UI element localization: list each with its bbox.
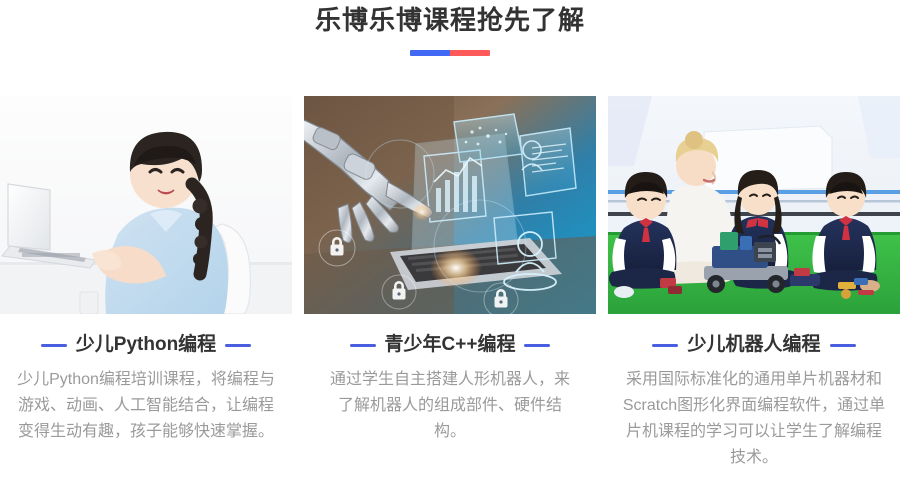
dash-right-icon: [830, 344, 856, 347]
dash-right-icon: [524, 344, 550, 347]
course-card-python[interactable]: 少儿Python编程 少儿Python编程培训课程，将编程与游戏、动画、人工智能…: [0, 96, 292, 471]
course-title-text: 少儿机器人编程: [687, 334, 820, 356]
course-card-cpp[interactable]: 青少年C++编程 通过学生自主搭建人形机器人，来了解机器人的组成部件、硬件结构。: [304, 96, 596, 471]
page-title: 乐博乐博课程抢先了解: [0, 4, 900, 36]
course-promo-page: 乐博乐博课程抢先了解: [0, 0, 900, 482]
divider-segment-red: [450, 50, 490, 56]
course-desc-cpp: 通过学生自主搭建人形机器人，来了解机器人的组成部件、硬件结构。: [325, 367, 575, 445]
course-title-python: 少儿Python编程: [41, 334, 251, 356]
course-desc-robotics: 采用国际标准化的通用单片机器材和Scratch图形化界面编程软件，通过单片机课程…: [619, 367, 889, 471]
dash-left-icon: [41, 344, 67, 347]
course-title-robotics: 少儿机器人编程: [652, 334, 855, 356]
course-title-text: 少儿Python编程: [76, 334, 216, 356]
course-card-list: 少儿Python编程 少儿Python编程培训课程，将编程与游戏、动画、人工智能…: [0, 96, 900, 471]
dash-left-icon: [350, 344, 376, 347]
course-thumbnail-robotics[interactable]: [608, 96, 900, 314]
dash-right-icon: [225, 344, 251, 347]
dash-left-icon: [652, 344, 678, 347]
course-thumbnail-cpp[interactable]: [304, 96, 596, 314]
course-thumbnail-python[interactable]: [0, 96, 292, 314]
divider-segment-blue: [410, 50, 450, 56]
course-desc-python: 少儿Python编程培训课程，将编程与游戏、动画、人工智能结合，让编程变得生动有…: [13, 367, 279, 445]
course-card-robotics[interactable]: 少儿机器人编程 采用国际标准化的通用单片机器材和Scratch图形化界面编程软件…: [608, 96, 900, 471]
page-header: 乐博乐博课程抢先了解: [0, 0, 900, 56]
course-title-cpp: 青少年C++编程: [350, 334, 551, 356]
course-title-text: 青少年C++编程: [385, 334, 516, 356]
title-divider: [410, 50, 490, 56]
